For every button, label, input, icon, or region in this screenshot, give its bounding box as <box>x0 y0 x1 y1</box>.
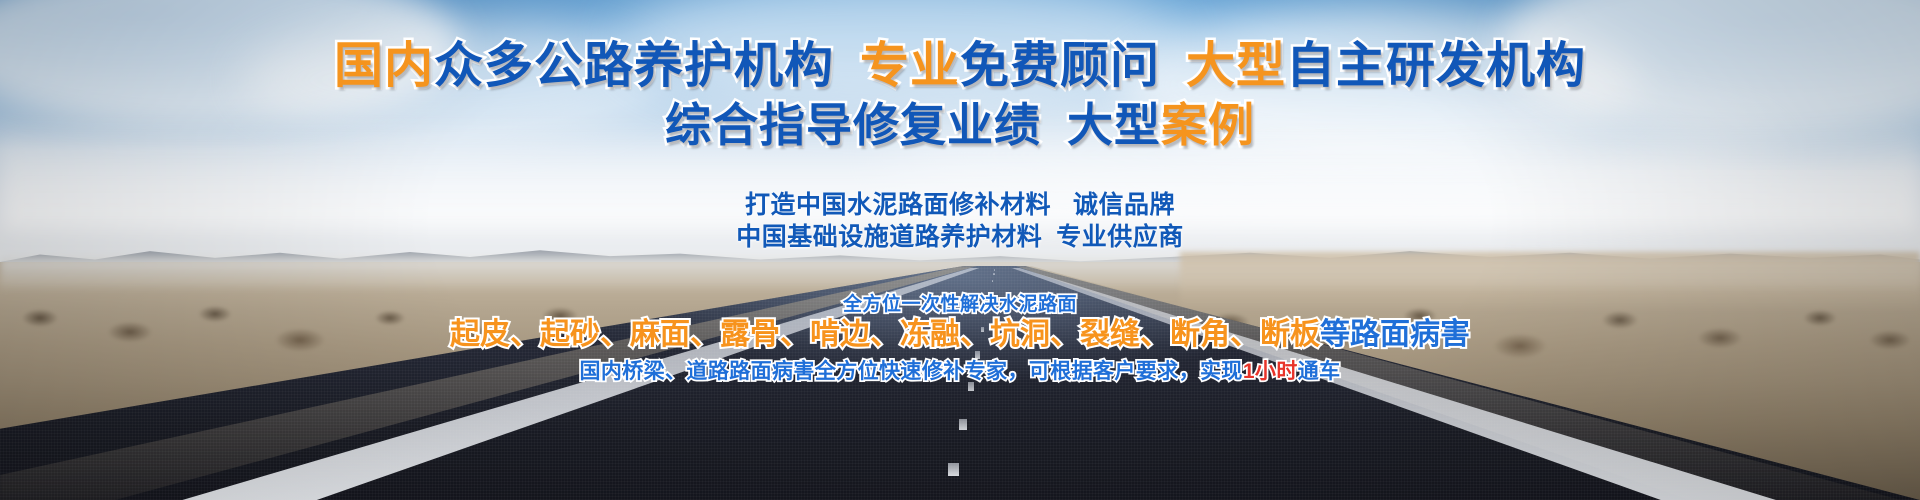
headline2-seg-blue-2: 大型 <box>1067 99 1161 151</box>
defect-suffix: 等路面病害 <box>1320 318 1470 351</box>
subhead-line-2: 中国基础设施道路养护材料专业供应商 <box>0 222 1920 253</box>
road-text-3-a: 国内桥梁、道路路面病害全方位快速修补专家，可根据客户要求，实现 <box>579 360 1242 383</box>
headline-seg-orange-1: 国内 <box>334 39 434 93</box>
subhead-2-b: 专业供应商 <box>1056 223 1184 251</box>
subhead-2-a: 中国基础设施道路养护材料 <box>736 223 1042 251</box>
road-text-line-1: 全方位一次性解决水泥路面 <box>0 293 1920 317</box>
headline-seg-orange-2: 专业 <box>860 39 960 93</box>
road-text-line-2: 起皮、起砂、麻面、露骨、啃边、冻融、坑洞、裂缝、断角、断板等路面病害 <box>0 316 1920 354</box>
headline-seg-blue-3: 自主研发机构 <box>1286 39 1586 93</box>
headline2-seg-blue-1: 综合指导修复业绩 <box>665 99 1041 151</box>
headline-line-1: 国内众多公路养护机构专业免费顾问大型自主研发机构 <box>0 38 1920 94</box>
headline-seg-blue-1: 众多公路养护机构 <box>434 39 834 93</box>
headline-seg-orange-3: 大型 <box>1186 39 1286 93</box>
headline-line-2: 综合指导修复业绩大型案例 <box>0 98 1920 152</box>
defect-list: 起皮、起砂、麻面、露骨、啃边、冻融、坑洞、裂缝、断角、断板 <box>450 318 1320 351</box>
road-text-line-3: 国内桥梁、道路路面病害全方位快速修补专家，可根据客户要求，实现1小时通车 <box>0 358 1920 386</box>
subhead-line-1: 打造中国水泥路面修补材料诚信品牌 <box>0 190 1920 221</box>
headline-seg-blue-2: 免费顾问 <box>960 39 1160 93</box>
headline2-seg-orange-1: 案例 <box>1161 99 1255 151</box>
road-text-highlight: 1小时 <box>1243 360 1298 383</box>
road-text-3-b: 通车 <box>1298 360 1341 383</box>
promo-banner: 国内众多公路养护机构专业免费顾问大型自主研发机构 综合指导修复业绩大型案例 打造… <box>0 0 1920 500</box>
subhead-1-b: 诚信品牌 <box>1073 191 1175 219</box>
subhead-1-a: 打造中国水泥路面修补材料 <box>745 191 1051 219</box>
